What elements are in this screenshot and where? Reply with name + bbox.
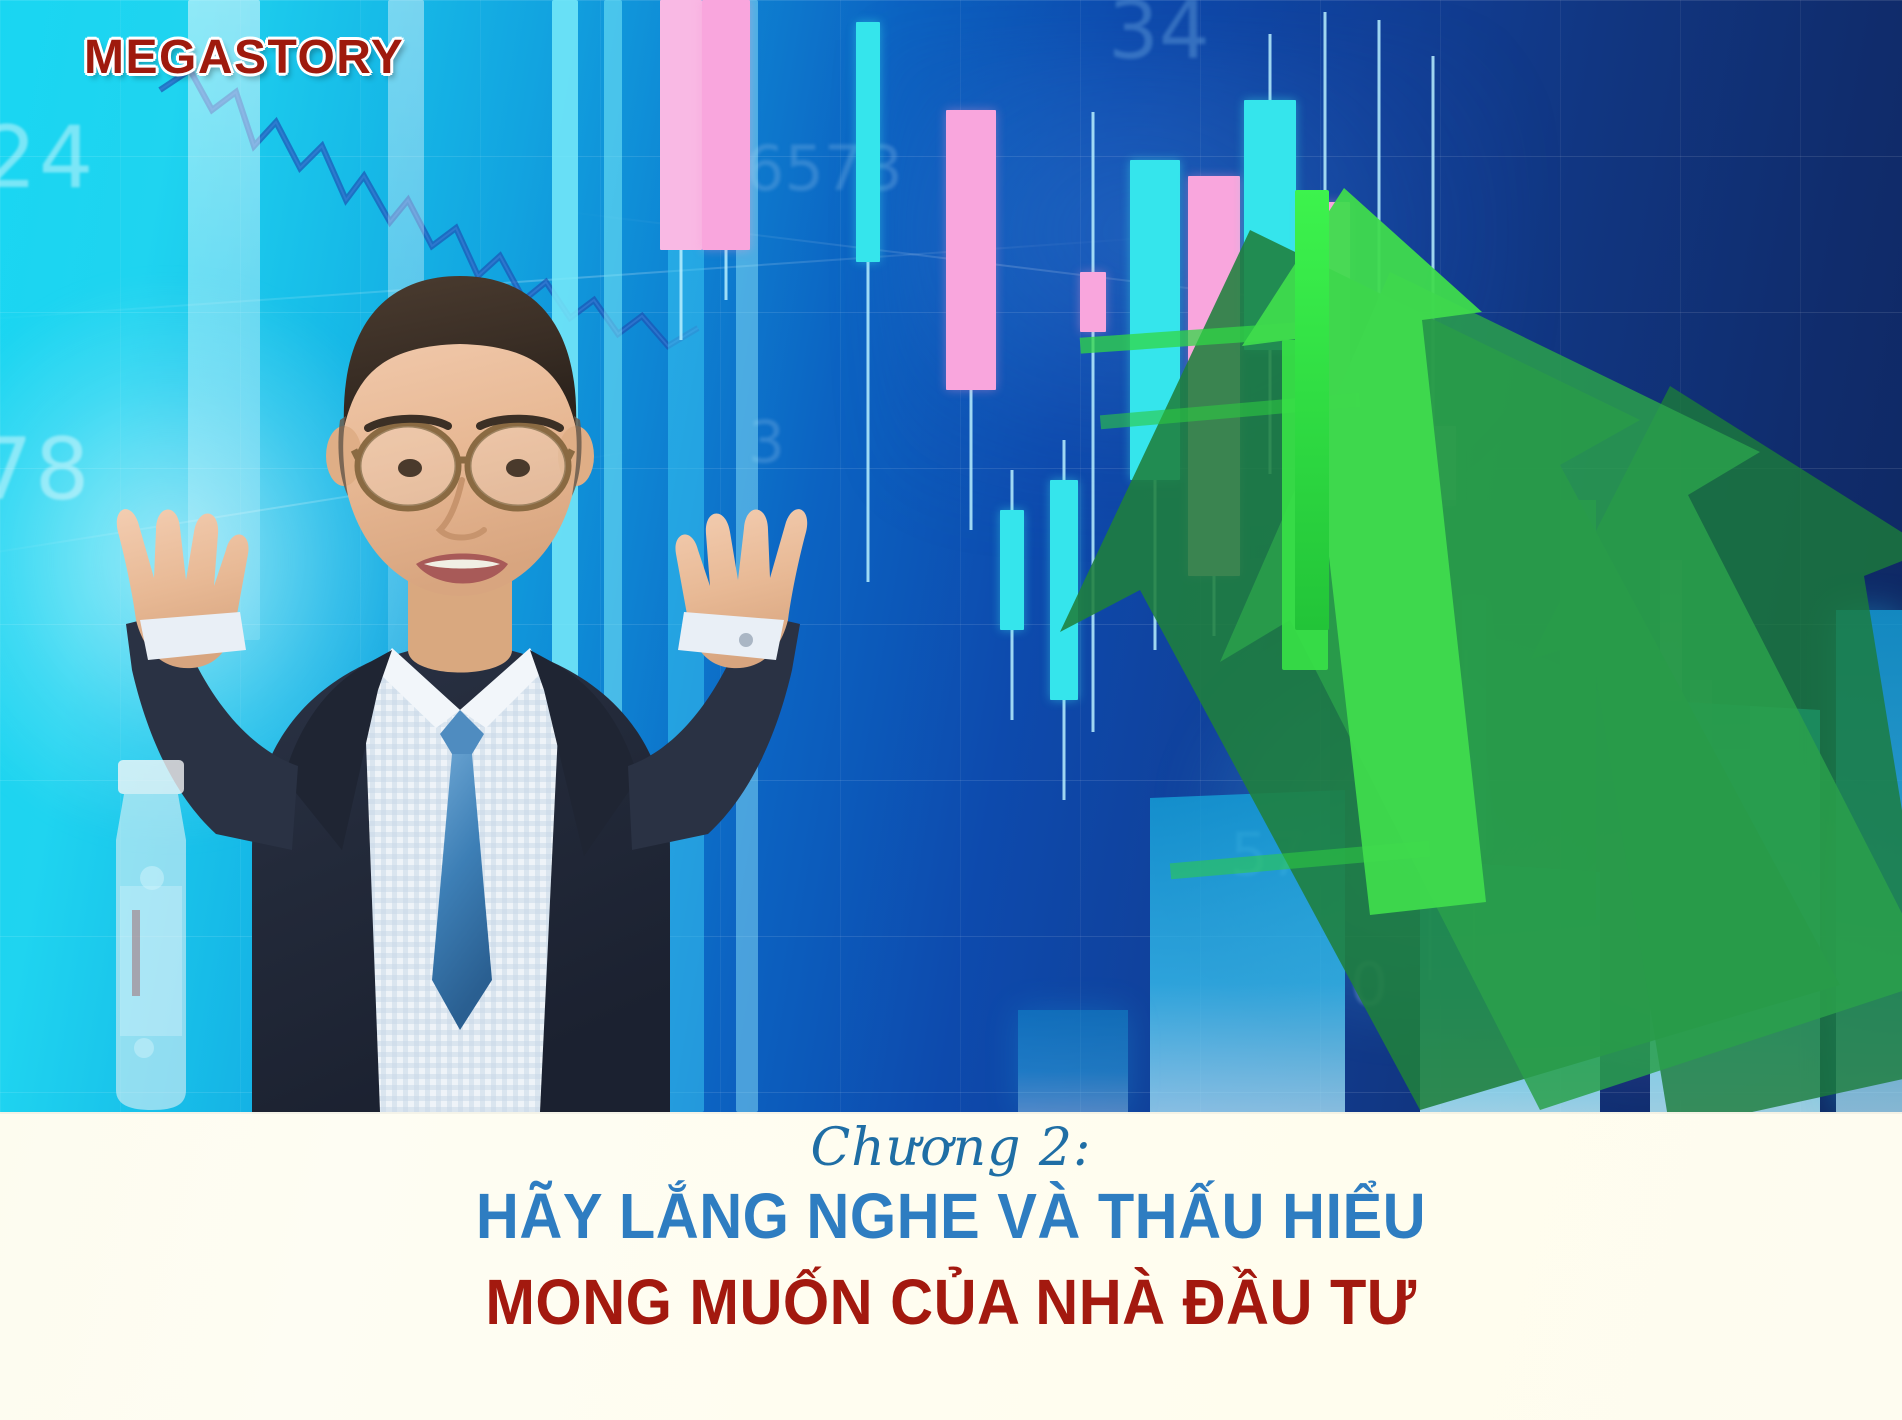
megastory-label: MEGASTORY [84,30,404,85]
chapter-label: Chương 2: [0,1112,1902,1177]
ghost-number: 34 [1108,0,1210,77]
water-bottle [62,760,242,1112]
candlestick [946,110,996,530]
hero-image: 24 78 34 6573 3 57 0 [0,0,1902,1112]
headline-line-2: MONG MUỐN CỦA NHÀ ĐẦU TƯ [67,1253,1836,1339]
megastory-cover: 24 78 34 6573 3 57 0 [0,0,1902,1420]
headline-line-1: HÃY LẮNG NGHE VÀ THẤU HIỂU [67,1177,1836,1253]
caption-band: Chương 2: HÃY LẮNG NGHE VÀ THẤU HIỂU MON… [0,1112,1902,1420]
green-bar [1295,190,1329,630]
